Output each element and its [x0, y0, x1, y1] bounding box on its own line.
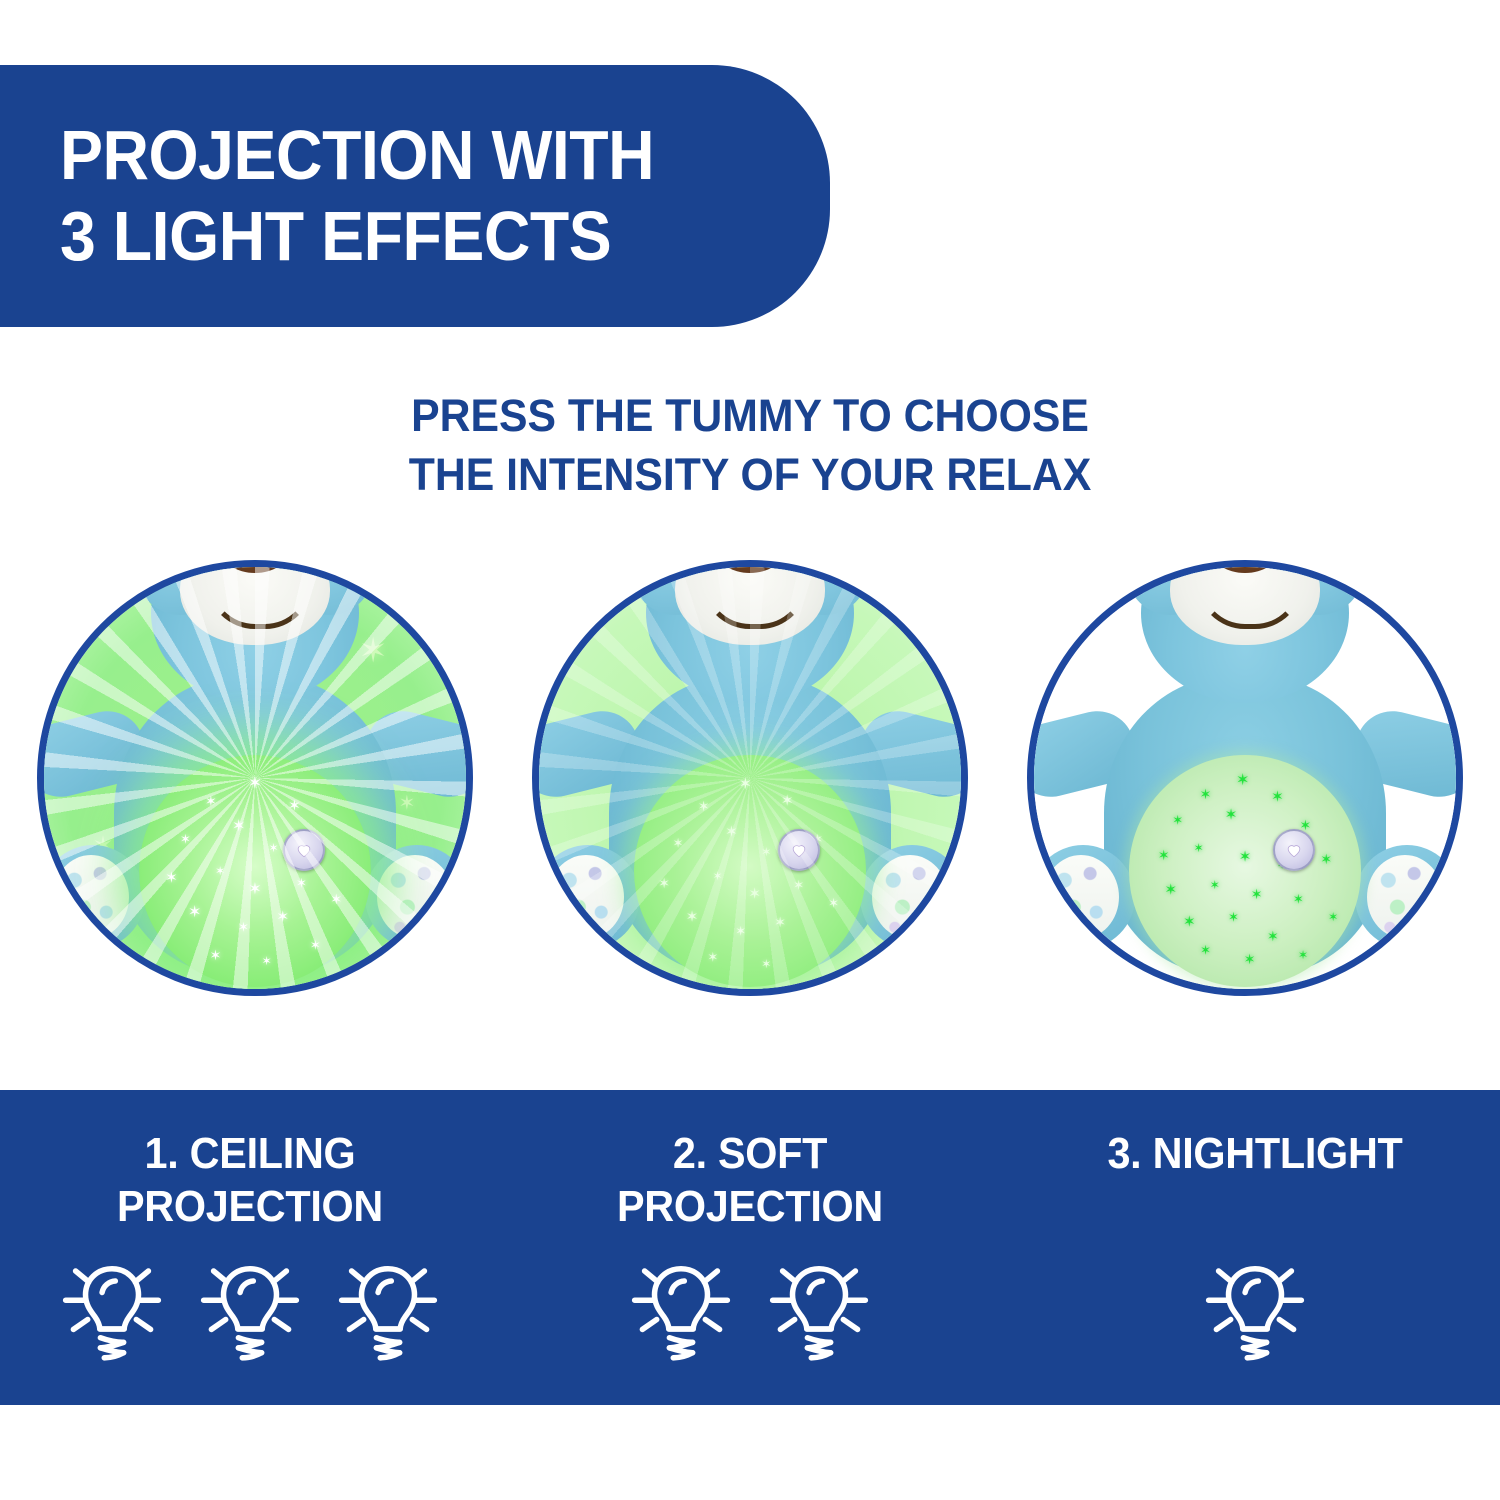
bulb-row-3	[1030, 1250, 1480, 1378]
scene-ceiling-projection: ✶ ✶ ✶ ✶ ✶	[44, 567, 466, 989]
product-photo-nightlight: ✶ ✶ ✶ ✶ ✶ ✶ ✶ ✶ ✶ ✶ ✶ ✶ ✶ ✶ ✶	[1027, 560, 1463, 996]
bear-muzzle	[1170, 567, 1320, 645]
light-bulb-icon	[763, 1250, 875, 1378]
mode-label-1-line-1: 1. CEILING	[145, 1129, 356, 1178]
header-banner: PROJECTION WITH 3 LIGHT EFFECTS	[0, 65, 830, 327]
mode-label-1-line-2: PROJECTION	[43, 1181, 457, 1234]
bear-paw-pad	[1043, 855, 1119, 939]
bear-paw-pad	[1367, 855, 1443, 939]
heart-button[interactable]	[1273, 829, 1315, 871]
mode-label-2: 2. SOFT PROJECTION	[543, 1090, 957, 1234]
subtitle-block: PRESS THE TUMMY TO CHOOSE THE INTENSITY …	[0, 386, 1500, 505]
light-bulb-icon	[56, 1250, 168, 1378]
header-title-line-2: 3 LIGHT EFFECTS	[60, 196, 732, 277]
mode-column-soft-projection: 2. SOFT PROJECTION	[530, 1090, 970, 1405]
mode-label-2-line-2: PROJECTION	[543, 1181, 957, 1234]
mode-label-1: 1. CEILING PROJECTION	[43, 1090, 457, 1234]
light-bulb-icon	[194, 1250, 306, 1378]
header-title-line-1: PROJECTION WITH	[60, 115, 732, 196]
mode-label-3: 3. NIGHTLIGHT	[1044, 1090, 1467, 1181]
mode-label-3-line-1: 3. NIGHTLIGHT	[1107, 1129, 1402, 1178]
bottom-white-margin	[0, 1405, 1500, 1500]
bulb-row-1	[30, 1250, 470, 1378]
light-bulb-icon	[332, 1250, 444, 1378]
bear-head	[1141, 567, 1349, 703]
heart-icon	[1284, 840, 1304, 860]
bear-smile	[1197, 567, 1303, 629]
mode-label-2-line-1: 2. SOFT	[673, 1129, 827, 1178]
scene-nightlight: ✶ ✶ ✶ ✶ ✶ ✶ ✶ ✶ ✶ ✶ ✶ ✶ ✶ ✶ ✶	[1034, 567, 1456, 989]
bulb-row-2	[530, 1250, 970, 1378]
mode-column-ceiling-projection: 1. CEILING PROJECTION	[30, 1090, 470, 1405]
bear-foot-right	[1355, 845, 1456, 949]
light-rays-soft	[539, 567, 961, 989]
light-bulb-icon	[625, 1250, 737, 1378]
bear-foot-left	[1034, 845, 1135, 949]
subtitle-line-1: PRESS THE TUMMY TO CHOOSE	[38, 386, 1463, 445]
mode-legend-panel: 1. CEILING PROJECTION	[0, 1090, 1500, 1405]
product-photo-soft-projection: ✶ ✶ ✶ ✶ ✶ ✶ ✶ ✶ ✶ ✶ ✶ ✶ ✶ ✶ ✶	[532, 560, 968, 996]
mode-column-nightlight: 3. NIGHTLIGHT	[1030, 1090, 1480, 1405]
subtitle-line-2: THE INTENSITY OF YOUR RELAX	[38, 445, 1463, 504]
product-photo-row: ✶ ✶ ✶ ✶ ✶	[0, 560, 1500, 1000]
light-bulb-icon	[1199, 1250, 1311, 1378]
plush-bear-3: ✶ ✶ ✶ ✶ ✶ ✶ ✶ ✶ ✶ ✶ ✶ ✶ ✶ ✶ ✶	[1065, 567, 1425, 989]
tummy-projector-panel[interactable]: ✶ ✶ ✶ ✶ ✶ ✶ ✶ ✶ ✶ ✶ ✶ ✶ ✶ ✶ ✶	[1129, 755, 1361, 987]
light-rays-strong	[44, 567, 466, 989]
projected-stars: ✶ ✶ ✶ ✶ ✶ ✶ ✶ ✶ ✶ ✶ ✶ ✶ ✶ ✶ ✶	[1129, 755, 1361, 987]
scene-soft-projection: ✶ ✶ ✶ ✶ ✶ ✶ ✶ ✶ ✶ ✶ ✶ ✶ ✶ ✶ ✶	[539, 567, 961, 989]
product-photo-ceiling-projection: ✶ ✶ ✶ ✶ ✶	[37, 560, 473, 996]
